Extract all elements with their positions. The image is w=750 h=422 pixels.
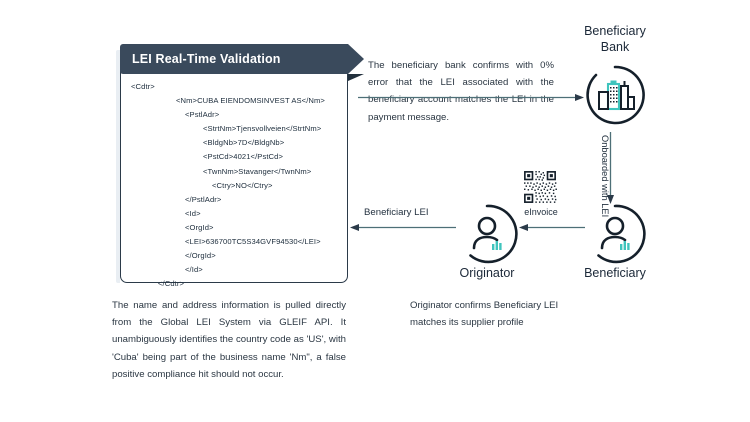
xml-line: <Ctry>NO</Ctry>	[121, 179, 347, 193]
einvoice-label: eInvoice	[519, 207, 563, 217]
arrow-originator-to-xml-panel	[350, 223, 456, 232]
xml-line: </Id>	[121, 263, 347, 277]
beneficiary-bank-label-line1: Beneficiary	[584, 24, 646, 38]
xml-line: <TwnNm>Stavanger</TwnNm>	[121, 165, 347, 179]
beneficiary-icon	[584, 203, 646, 265]
beneficiary-label: Beneficiary	[556, 266, 674, 282]
beneficiary-bank-label: Beneficiary Bank	[556, 24, 674, 55]
xml-line: </OrgId>	[121, 249, 347, 263]
xml-line: </Cdtr>	[121, 277, 347, 291]
beneficiary-bank-icon	[584, 64, 646, 126]
originator-label: Originator	[428, 266, 546, 282]
xml-line: <Cdtr>	[121, 80, 347, 94]
xml-code-block: <Cdtr><Nm>CUBA EIENDOMSINVEST AS</Nm><Ps…	[121, 80, 347, 291]
originator-icon	[456, 203, 518, 265]
beneficiary-bank-confirmation-text: The beneficiary bank confirms with 0% er…	[368, 57, 554, 126]
einvoice-qr-code-icon	[521, 170, 559, 204]
xml-line: <OrgId>	[121, 221, 347, 235]
gleif-api-note-text: The name and address information is pull…	[112, 297, 346, 383]
arrow-xml-to-beneficiary-bank	[358, 93, 584, 102]
xml-line: <BldgNb>7D</BldgNb>	[121, 136, 347, 150]
beneficiary-bank-label-line2: Bank	[601, 40, 630, 54]
xml-line: <Nm>CUBA EIENDOMSINVEST AS</Nm>	[121, 94, 347, 108]
arrow-beneficiary-to-originator	[519, 223, 585, 232]
originator-confirmation-text: Originator confirms Beneficiary LEI matc…	[410, 297, 576, 331]
panel-header-fold-shadow	[348, 74, 364, 81]
panel-title: LEI Real-Time Validation	[120, 44, 364, 74]
xml-line: <StrtNm>Tjensvollveien</StrtNm>	[121, 122, 347, 136]
xml-line: <LEI>636700TC5S34GVF94530</LEI>	[121, 235, 347, 249]
xml-line: <PstlAdr>	[121, 108, 347, 122]
beneficiary-lei-arrow-label: Beneficiary LEI	[364, 207, 429, 218]
xml-line: <PstCd>4021</PstCd>	[121, 150, 347, 164]
xml-line: </PstlAdr>	[121, 193, 347, 207]
lei-validation-panel: LEI Real-Time Validation <Cdtr><Nm>CUBA …	[120, 44, 348, 283]
xml-line: <Id>	[121, 207, 347, 221]
